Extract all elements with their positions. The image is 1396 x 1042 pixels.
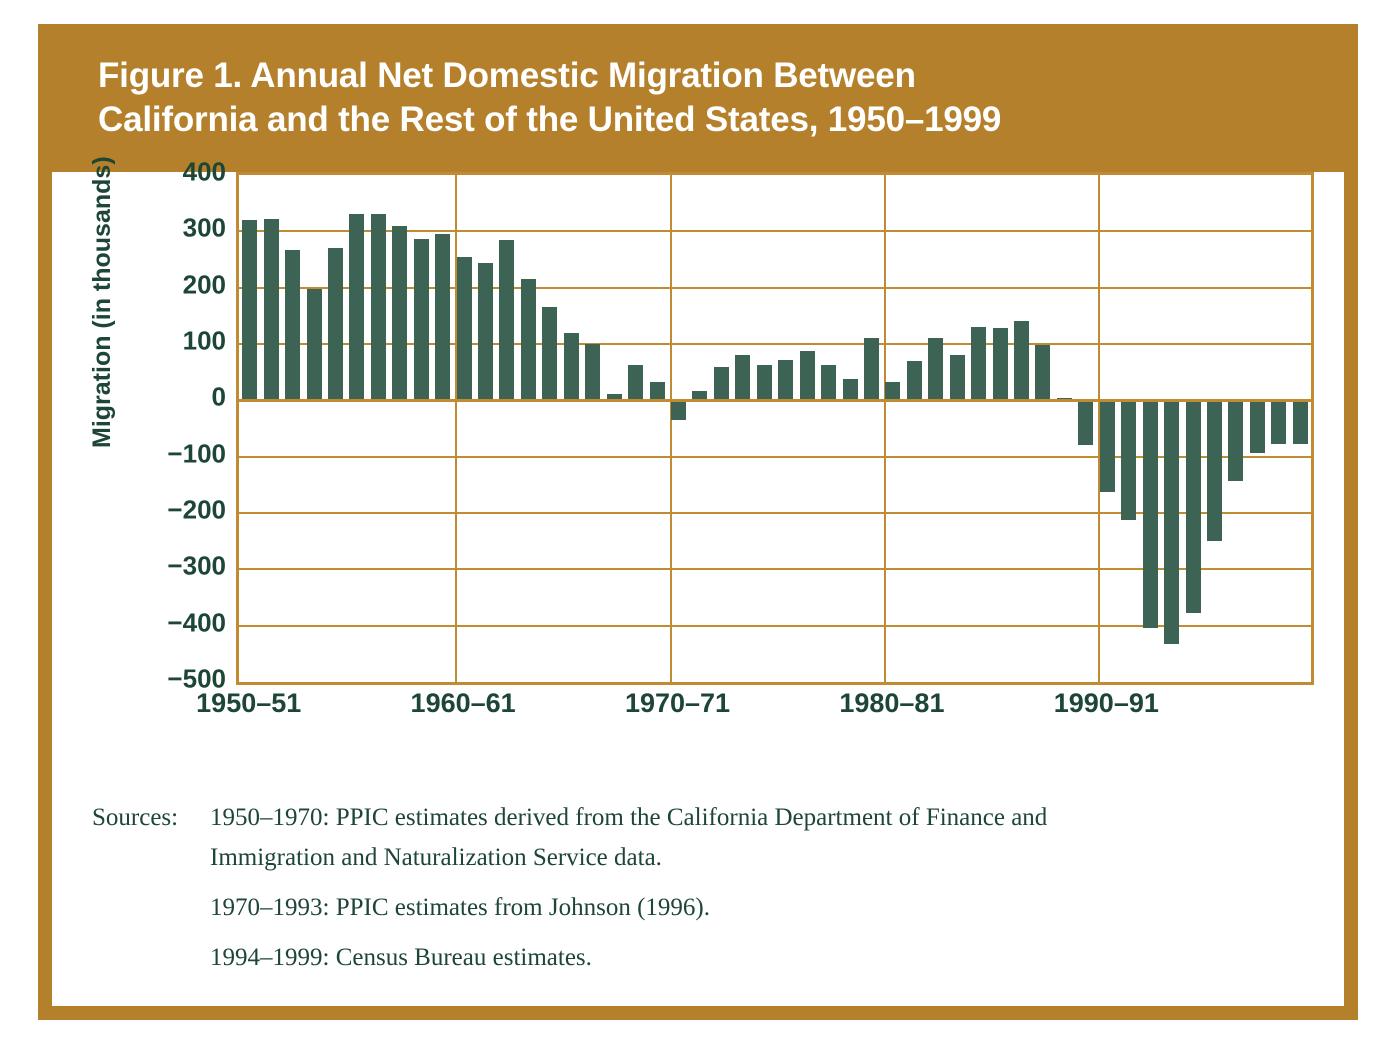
bar: [242, 220, 257, 400]
bar: [1293, 400, 1308, 443]
bar: [1228, 400, 1243, 481]
bar: [1207, 400, 1222, 541]
sources-note: Sources: 1950–1970: PPIC estimates deriv…: [92, 798, 1312, 978]
bar: [885, 382, 900, 401]
y-axis-label: Migration (in thousands): [88, 422, 117, 448]
y-tick-label: 200: [126, 269, 226, 300]
bar: [1164, 400, 1179, 644]
bar: [821, 365, 836, 400]
bar: [735, 355, 750, 400]
bar: [457, 257, 472, 401]
x-tick-label: 1950–51: [196, 688, 301, 719]
y-tick-label: 400: [126, 157, 226, 188]
bar: [349, 214, 364, 400]
bar: [1078, 400, 1093, 445]
bar-series: [239, 175, 1311, 682]
x-tick-label: 1970–71: [625, 688, 730, 719]
bar: [285, 250, 300, 400]
figure-frame: Figure 1. Annual Net Domestic Migration …: [38, 24, 1358, 1020]
bar: [1014, 321, 1029, 400]
bar: [778, 360, 793, 401]
bar: [499, 240, 514, 401]
plot-region: [236, 172, 1314, 685]
bar: [1271, 400, 1286, 443]
chart-area: Migration (in thousands) 4003002001000−1…: [52, 172, 1344, 872]
bar: [1100, 400, 1115, 492]
y-tick-label: 0: [126, 382, 226, 413]
figure-title-line-1: Figure 1. Annual Net Domestic Migration …: [98, 54, 1344, 98]
y-tick-label: 300: [126, 213, 226, 244]
bar: [928, 338, 943, 400]
sources-row-1: Sources: 1950–1970: PPIC estimates deriv…: [92, 798, 1312, 838]
sources-text-1b: Immigration and Naturalization Service d…: [210, 838, 1312, 878]
bar: [371, 214, 386, 400]
figure-title-band: Figure 1. Annual Net Domestic Migration …: [52, 38, 1344, 172]
bar: [478, 263, 493, 400]
bar: [864, 338, 879, 400]
y-tick-label: −100: [126, 438, 226, 469]
sources-text-3: 1994–1999: Census Bureau estimates.: [210, 938, 1312, 978]
figure-title-line-2: California and the Rest of the United St…: [98, 98, 1344, 142]
bar: [950, 355, 965, 400]
sources-spacer-2: [92, 928, 1312, 938]
y-tick-label: −200: [126, 495, 226, 526]
bar: [1121, 400, 1136, 519]
bar: [521, 279, 536, 401]
bar: [907, 361, 922, 400]
y-tick-label: −300: [126, 551, 226, 582]
bar: [971, 327, 986, 400]
bar: [435, 234, 450, 401]
sources-text-1a: 1950–1970: PPIC estimates derived from t…: [210, 798, 1312, 838]
bar: [993, 328, 1008, 400]
zero-axis-line: [239, 399, 1311, 402]
sources-spacer-1: [92, 878, 1312, 888]
y-axis-tick-labels: 4003002001000−100−200−300−400−500: [132, 172, 232, 732]
bar: [1186, 400, 1201, 613]
bar: [800, 351, 815, 401]
bar: [564, 333, 579, 401]
sources-text-2: 1970–1993: PPIC estimates from Johnson (…: [210, 888, 1312, 928]
y-tick-label: −400: [126, 607, 226, 638]
bar: [1035, 345, 1050, 400]
x-tick-label: 1960–61: [411, 688, 516, 719]
bar: [328, 248, 343, 400]
bar: [650, 382, 665, 401]
x-axis-tick-labels: 1950–511960–611970–711980–811990–91: [236, 688, 1314, 736]
bar: [414, 239, 429, 401]
bar: [392, 226, 407, 401]
bar: [1250, 400, 1265, 452]
bar: [264, 219, 279, 400]
bar: [757, 365, 772, 400]
sources-label: Sources:: [92, 798, 210, 838]
x-tick-label: 1980–81: [839, 688, 944, 719]
bar: [585, 344, 600, 400]
bar: [714, 367, 729, 401]
bar: [628, 365, 643, 400]
bar: [307, 289, 322, 400]
bar: [1143, 400, 1158, 628]
x-tick-label: 1990–91: [1054, 688, 1159, 719]
bar: [542, 307, 557, 401]
y-tick-label: 100: [126, 326, 226, 357]
bar: [843, 379, 858, 400]
bar: [671, 400, 686, 420]
